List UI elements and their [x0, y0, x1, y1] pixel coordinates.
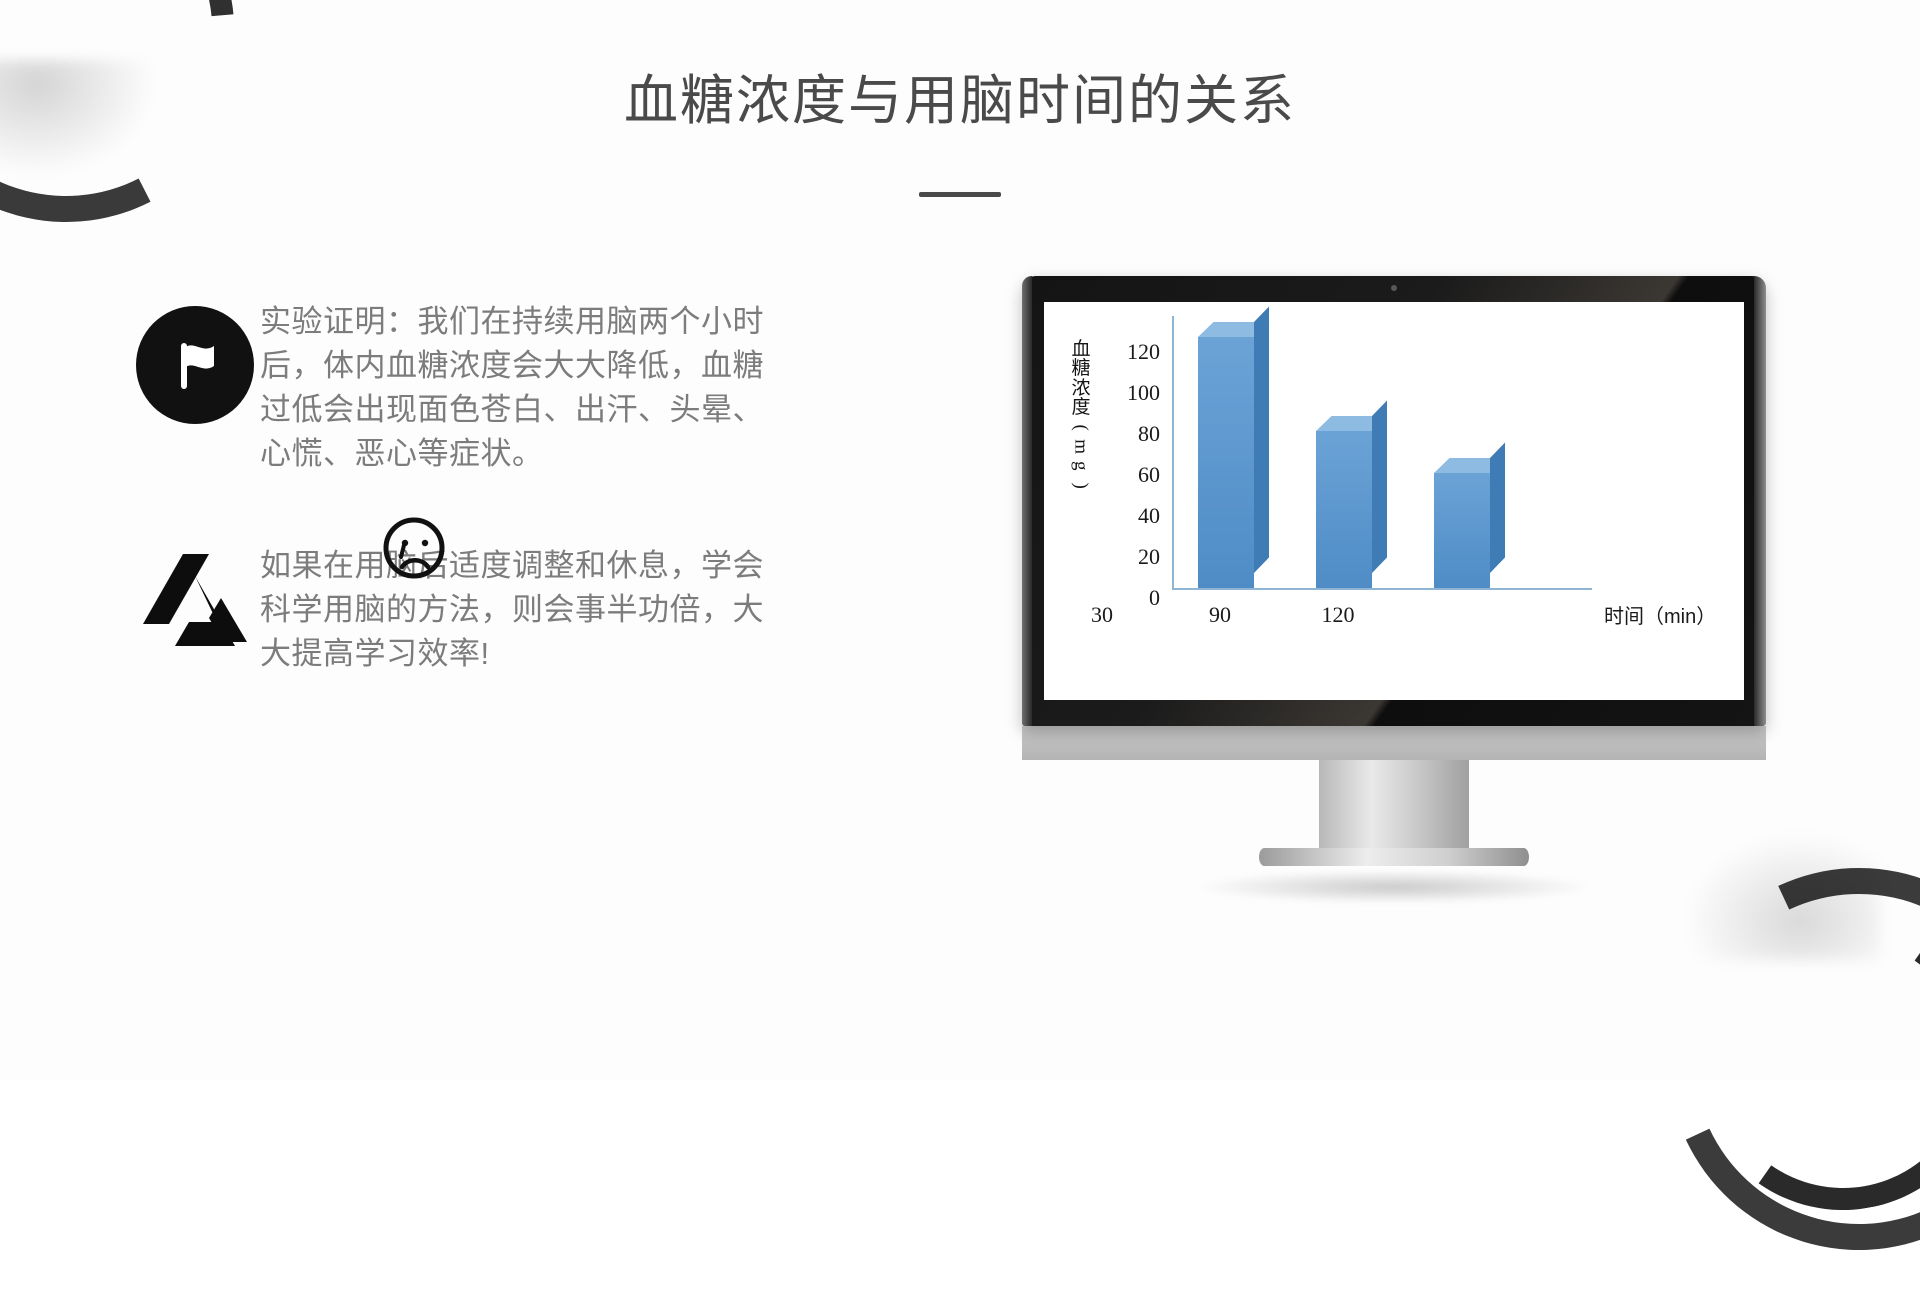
chart-bar: [1434, 473, 1490, 588]
flag-badge-icon: [136, 306, 254, 424]
sad-face-icon: [381, 515, 447, 581]
y-tick-label: 60: [1138, 462, 1160, 488]
y-tick-label: 120: [1127, 339, 1160, 365]
chart-bar-side: [1372, 401, 1387, 573]
y-tick-label: 40: [1138, 503, 1160, 529]
chart-bar: [1316, 431, 1372, 588]
y-tick-label: 20: [1138, 544, 1160, 570]
monitor-base-shadow: [1194, 870, 1594, 904]
bullet-list: 实验证明：我们在持续用脑两个小时后，体内血糖浓度会大大降低，血糖过低会出现面色苍…: [130, 300, 830, 744]
bullet-icon-slot: [130, 544, 260, 654]
desktop-monitor: 血糖浓度(mg) 020406080100120 时间（min） 3090120: [1022, 276, 1766, 904]
x-tick-label: 90: [1209, 602, 1231, 628]
chart-x-axis-line: [1172, 588, 1592, 590]
y-axis-label-char: 血: [1064, 340, 1098, 359]
list-item: 如果在用脑后适度调整和休息，学会科学用脑的方法，则会事半功倍，大大提高学习效率!: [130, 544, 830, 676]
chart-bar-face: [1198, 337, 1254, 588]
chart-bar-face: [1316, 431, 1372, 588]
chart-plot-area: [1172, 316, 1602, 588]
monitor-neck-top: [1022, 726, 1766, 760]
bezel-right-edge: [1754, 276, 1766, 726]
monitor-neck: [1319, 760, 1469, 848]
y-axis-label-char: 糖: [1064, 359, 1098, 378]
bullet-text: 实验证明：我们在持续用脑两个小时后，体内血糖浓度会大大降低，血糖过低会出现面色苍…: [260, 300, 780, 476]
chart-bar-face: [1434, 473, 1490, 588]
chart-y-ticks: 020406080100120: [1106, 324, 1160, 590]
slide-root: 血糖浓度与用脑时间的关系 实验证明：我们在持续用脑两个小时后，体内血糖浓度会大大…: [0, 0, 1920, 1080]
monitor-base: [1259, 848, 1529, 866]
bezel-left-edge: [1022, 276, 1032, 726]
chart-bar-side: [1490, 442, 1505, 573]
y-axis-label-char: 浓: [1064, 379, 1098, 398]
chart-x-axis-label: 时间（min）: [1604, 600, 1716, 629]
bullet-text: 如果在用脑后适度调整和休息，学会科学用脑的方法，则会事半功倍，大大提高学习效率!: [260, 544, 780, 676]
monitor-bezel: 血糖浓度(mg) 020406080100120 时间（min） 3090120: [1022, 276, 1766, 726]
chart-bar-side: [1254, 306, 1269, 573]
triangle-drive-icon: [139, 550, 251, 654]
chart-bar: [1198, 337, 1254, 588]
title-divider: [919, 192, 1001, 197]
bullet-icon-slot: [130, 300, 260, 424]
chart-y-axis-label: 血糖浓度(mg): [1064, 340, 1098, 495]
monitor-screen: 血糖浓度(mg) 020406080100120 时间（min） 3090120: [1044, 302, 1744, 700]
y-tick-label: 100: [1127, 380, 1160, 406]
x-tick-label: 30: [1091, 602, 1113, 628]
x-tick-label: 120: [1322, 602, 1355, 628]
y-tick-label: 80: [1138, 421, 1160, 447]
camera-dot-icon: [1391, 285, 1397, 291]
page-title: 血糖浓度与用脑时间的关系: [0, 56, 1920, 135]
blood-sugar-bar-chart: 血糖浓度(mg) 020406080100120 时间（min） 3090120: [1044, 302, 1744, 700]
list-item: 实验证明：我们在持续用脑两个小时后，体内血糖浓度会大大降低，血糖过低会出现面色苍…: [130, 300, 830, 476]
y-axis-label-char: ): [1071, 468, 1090, 502]
y-tick-label: 0: [1149, 585, 1160, 611]
